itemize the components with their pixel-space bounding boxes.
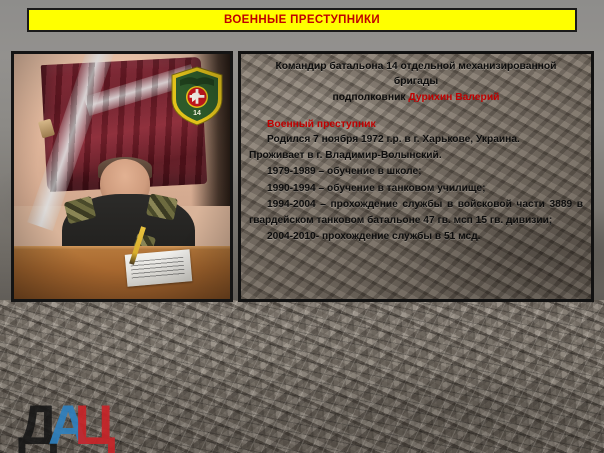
title-banner: ВОЕННЫЕ ПРЕСТУПНИКИ bbox=[27, 8, 577, 32]
bio-line-3: 1990-1994 – обучение в танковом училище; bbox=[249, 181, 583, 197]
rank-and-name: подполковник Дурихин Валерий bbox=[249, 90, 583, 106]
bio-line-4: 1994-2004 – прохождение службы в войсков… bbox=[249, 197, 583, 229]
bio-line-0: Родился 7 ноября 1972 г.р. в г. Харькове… bbox=[249, 132, 583, 148]
slide-root: ВОЕННЫЕ ПРЕСТУПНИКИ 14 bbox=[0, 0, 604, 453]
subject-photo: 14 bbox=[11, 51, 233, 302]
brigade-emblem-icon: 14 bbox=[170, 66, 224, 126]
rank-label: подполковник bbox=[333, 92, 409, 103]
svg-text:14: 14 bbox=[193, 110, 201, 117]
subject-name: Дурихин Валерий bbox=[408, 92, 499, 103]
page-title: ВОЕННЫЕ ПРЕСТУПНИКИ bbox=[224, 14, 380, 26]
watermark-logo: Д А Ц bbox=[18, 400, 111, 450]
status-badge: Военный преступник bbox=[267, 119, 583, 130]
bio-line-1: Проживает в г. Владимир-Волынский. bbox=[249, 148, 583, 164]
desk bbox=[14, 250, 230, 299]
biography: Родился 7 ноября 1972 г.р. в г. Харькове… bbox=[249, 132, 583, 245]
bio-line-5: 2004-2010- прохождение службы в 51 мсд. bbox=[249, 229, 583, 245]
position-line-2: бригады bbox=[249, 75, 583, 90]
dossier-panel: Командир батальона 14 отдельной механизи… bbox=[238, 51, 594, 302]
position-line-1: Командир батальона 14 отдельной механизи… bbox=[249, 60, 583, 75]
bio-line-2: 1979-1989 – обучение в школе; bbox=[249, 164, 583, 180]
watermark-letter-3: Ц bbox=[74, 400, 111, 450]
